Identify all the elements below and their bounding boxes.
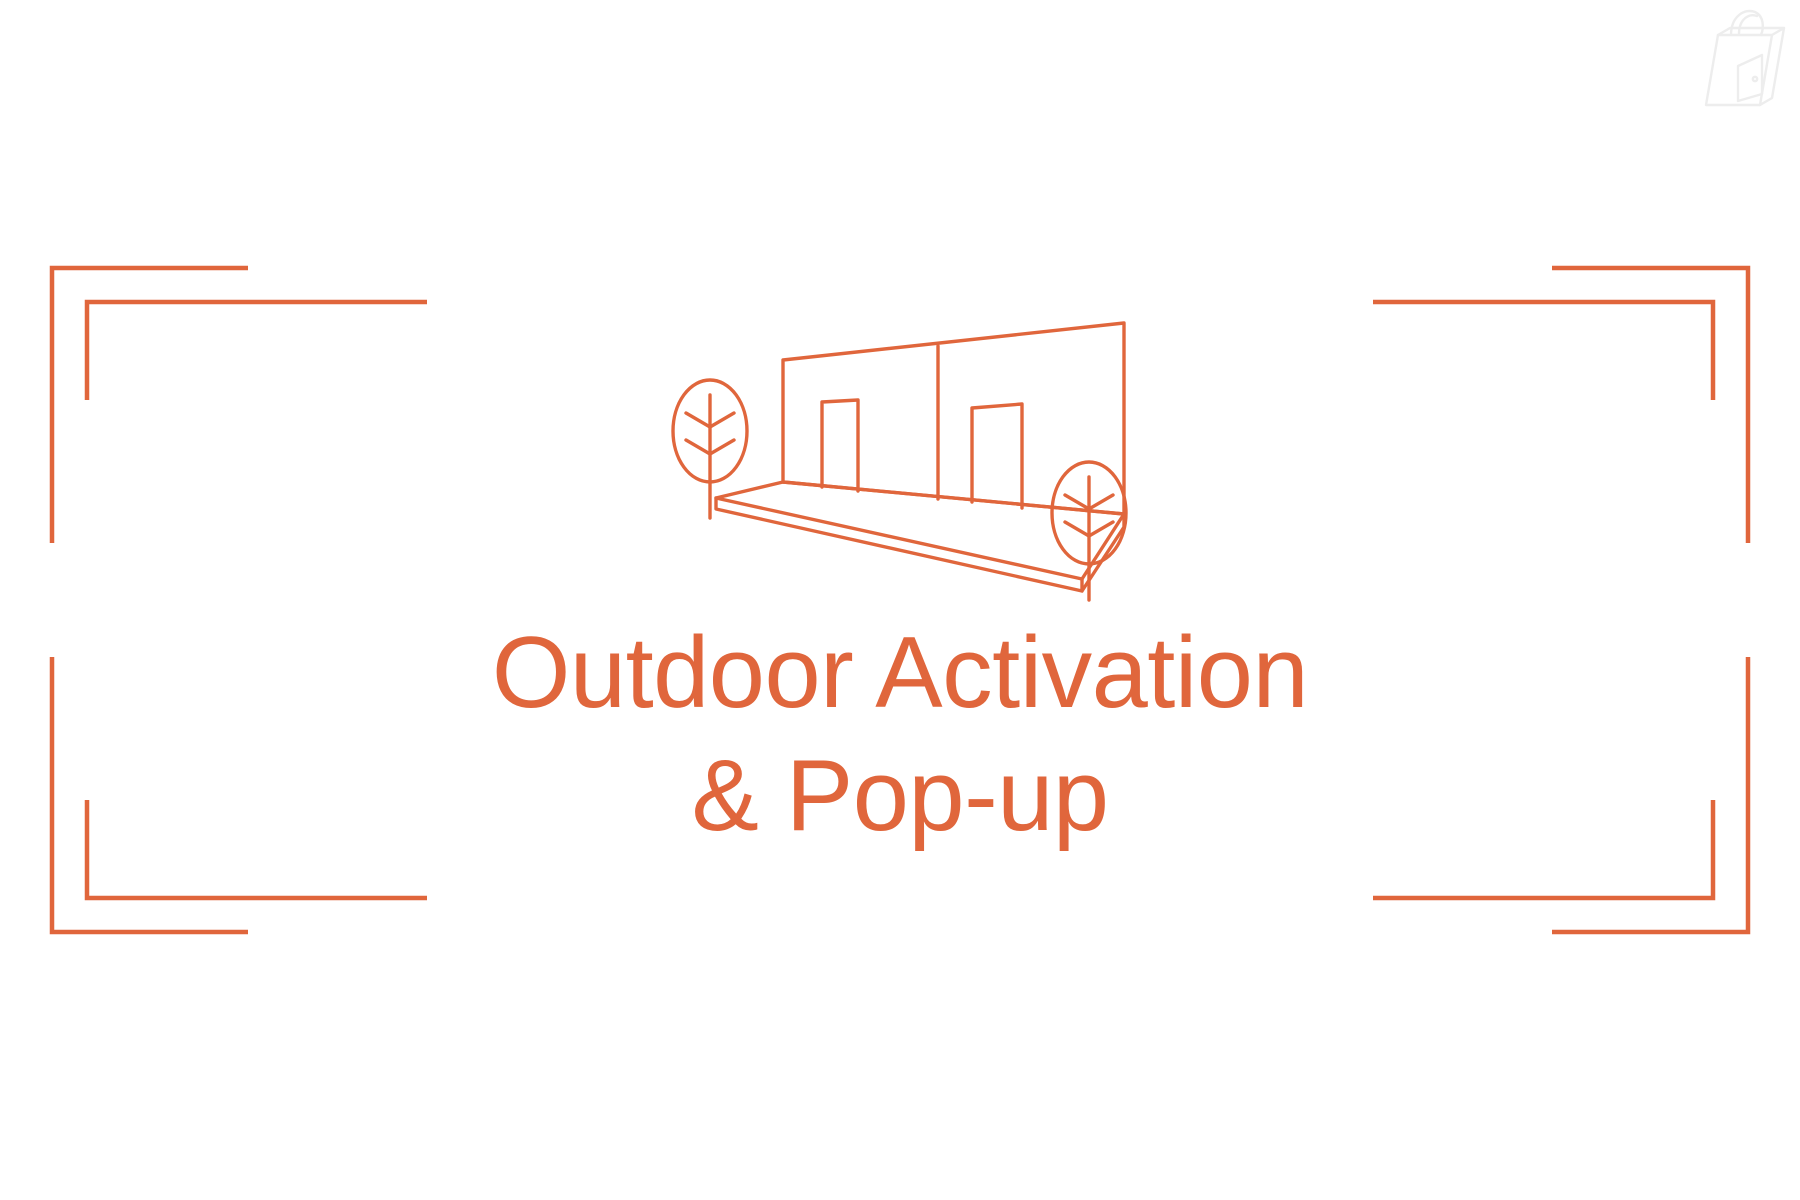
storefront-facade-illustration [650, 296, 1162, 622]
tree-left [673, 380, 747, 518]
slide-canvas: Outdoor Activation & Pop-up [0, 0, 1800, 1200]
title-line-2: & Pop-up [0, 735, 1800, 858]
doorway-left [822, 400, 858, 491]
shopping-bag-storefront-icon [1698, 4, 1794, 108]
title-line-1: Outdoor Activation [0, 612, 1800, 735]
watermark-logo [1698, 4, 1794, 108]
sidewalk-slab [716, 482, 1124, 591]
doorway-right [972, 404, 1022, 508]
corner-bracket-top-right [1373, 268, 1748, 543]
corner-bracket-top-left [52, 268, 427, 543]
storefront-illustration [650, 296, 1162, 622]
page-title: Outdoor Activation & Pop-up [0, 612, 1800, 858]
